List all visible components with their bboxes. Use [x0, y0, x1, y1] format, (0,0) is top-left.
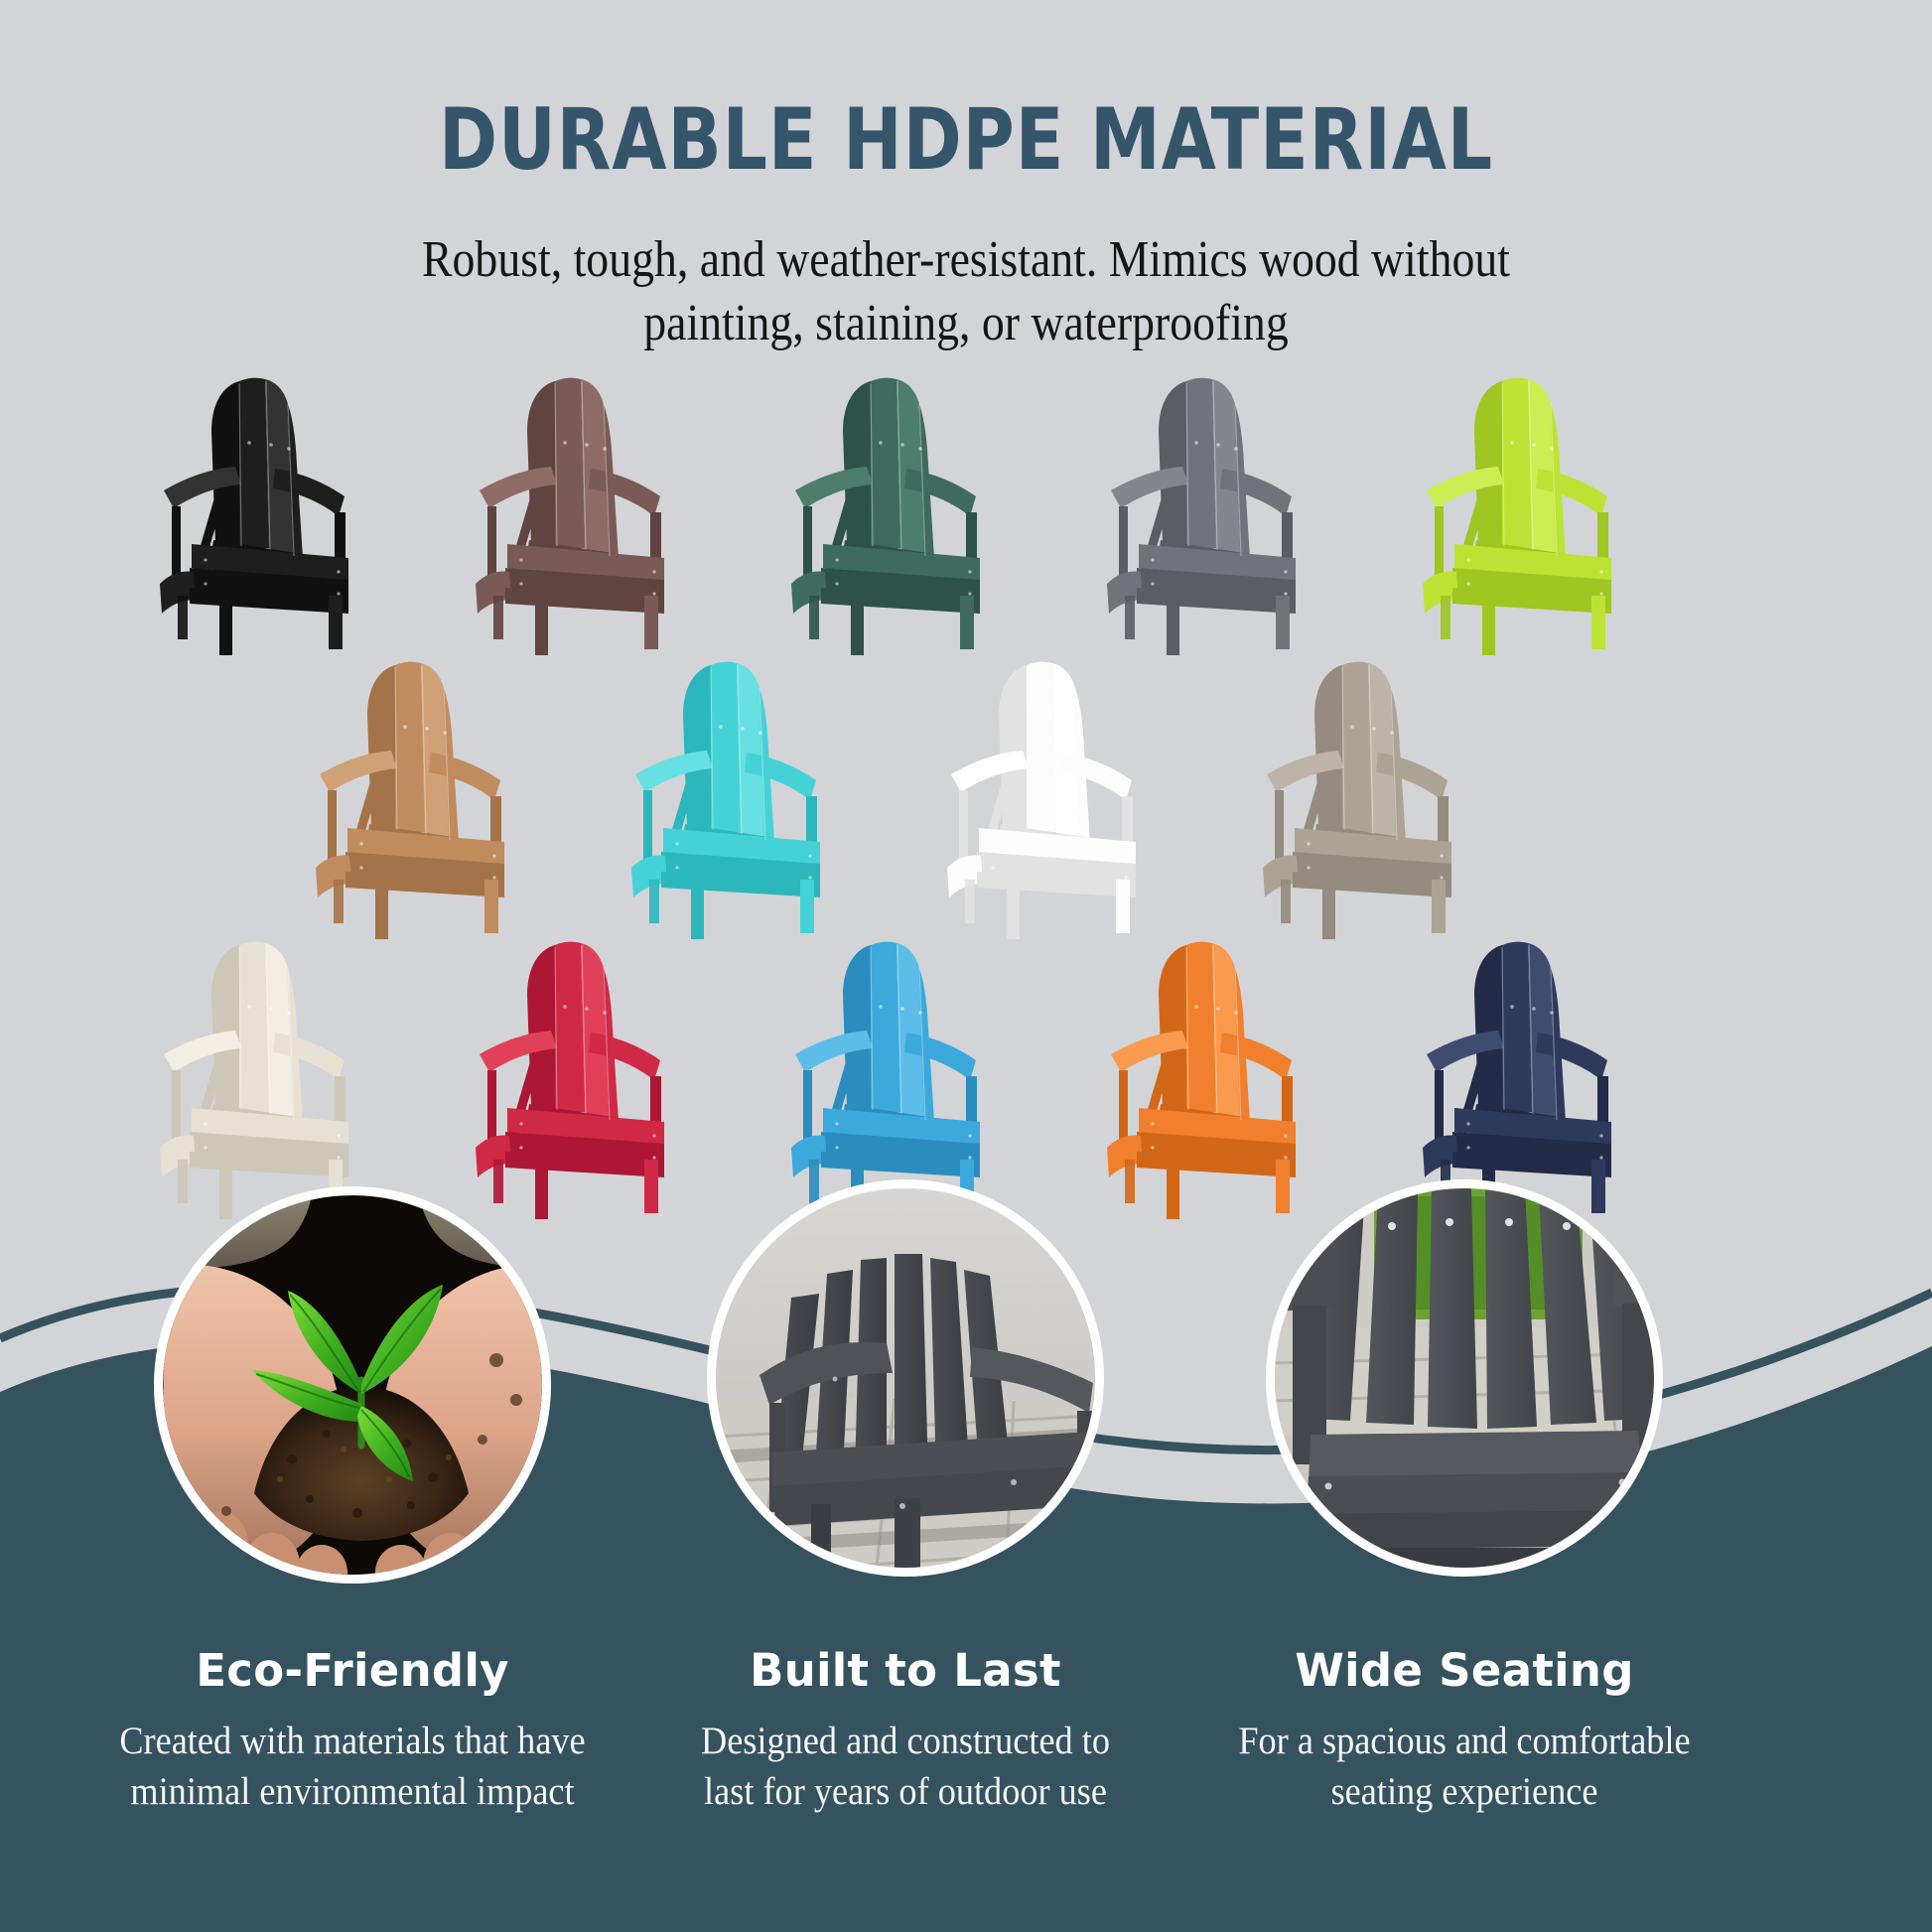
gray-chair-photo-icon [716, 1188, 1095, 1568]
feature-desc-eco-friendly: Created with materials that have minimal… [94, 1717, 612, 1817]
feature-heading-wide-seating: Wide Seating [1186, 1648, 1742, 1693]
chair-swatch-khaki[interactable] [1257, 653, 1515, 941]
feature-text-eco-friendly: Eco-Friendly Created with materials that… [74, 1648, 630, 1817]
feature-heading-built-to-last: Built to Last [627, 1648, 1183, 1693]
feature-desc-line-2: last for years of outdoor use [647, 1767, 1165, 1818]
infographic-page: DURABLE HDPE MATERIAL Robust, tough, and… [0, 0, 1932, 1932]
chair-swatch-sky-blue[interactable] [785, 933, 1043, 1221]
adirondack-chair-svg [1417, 933, 1675, 1221]
adirondack-chair-svg [470, 933, 728, 1221]
feature-desc-line-1: For a spacious and comfortable [1206, 1717, 1724, 1767]
chair-swatch-black[interactable] [154, 369, 412, 657]
feature-desc-line-2: seating experience [1206, 1767, 1724, 1818]
adirondack-chair-svg [310, 653, 568, 941]
adirondack-chair-svg [941, 653, 1199, 941]
chair-swatch-orange[interactable] [1101, 933, 1359, 1221]
feature-image-eco-friendly [154, 1186, 551, 1584]
feature-heading-eco-friendly: Eco-Friendly [74, 1648, 630, 1693]
feature-text-wide-seating: Wide Seating For a spacious and comforta… [1186, 1648, 1742, 1817]
adirondack-chair-svg [154, 933, 412, 1221]
chair-swatch-navy[interactable] [1417, 933, 1675, 1221]
feature-desc-built-to-last: Designed and constructed to last for yea… [647, 1717, 1165, 1817]
adirondack-chair-svg [785, 933, 1043, 1221]
adirondack-chair-svg [625, 653, 884, 941]
adirondack-chair-svg [470, 369, 728, 657]
feature-desc-line-1: Designed and constructed to [647, 1717, 1165, 1767]
adirondack-chair-svg [785, 369, 1043, 657]
wide-seat-closeup-icon [1275, 1188, 1654, 1568]
chair-swatch-turquoise[interactable] [625, 653, 884, 941]
feature-image-wide-seating [1266, 1179, 1663, 1577]
feature-image-built-to-last [707, 1179, 1104, 1577]
chair-swatch-teak[interactable] [310, 653, 568, 941]
feature-desc-line-1: Created with materials that have [94, 1717, 612, 1767]
feature-desc-line-2: minimal environmental impact [94, 1767, 612, 1818]
hands-seedling-icon [163, 1195, 542, 1575]
adirondack-chair-svg [1101, 933, 1359, 1221]
adirondack-chair-svg [1257, 653, 1515, 941]
chair-color-grid [0, 0, 1932, 1152]
chair-swatch-brown[interactable] [470, 369, 728, 657]
chair-swatch-dark-green[interactable] [785, 369, 1043, 657]
chair-swatch-ivory[interactable] [154, 933, 412, 1221]
adirondack-chair-svg [154, 369, 412, 657]
feature-text-built-to-last: Built to Last Designed and constructed t… [627, 1648, 1183, 1817]
chair-swatch-red[interactable] [470, 933, 728, 1221]
chair-swatch-gray[interactable] [1101, 369, 1359, 657]
adirondack-chair-svg [1417, 369, 1675, 657]
chair-swatch-lime-green[interactable] [1417, 369, 1675, 657]
feature-desc-wide-seating: For a spacious and comfortable seating e… [1206, 1717, 1724, 1817]
adirondack-chair-svg [1101, 369, 1359, 657]
chair-swatch-white[interactable] [941, 653, 1199, 941]
